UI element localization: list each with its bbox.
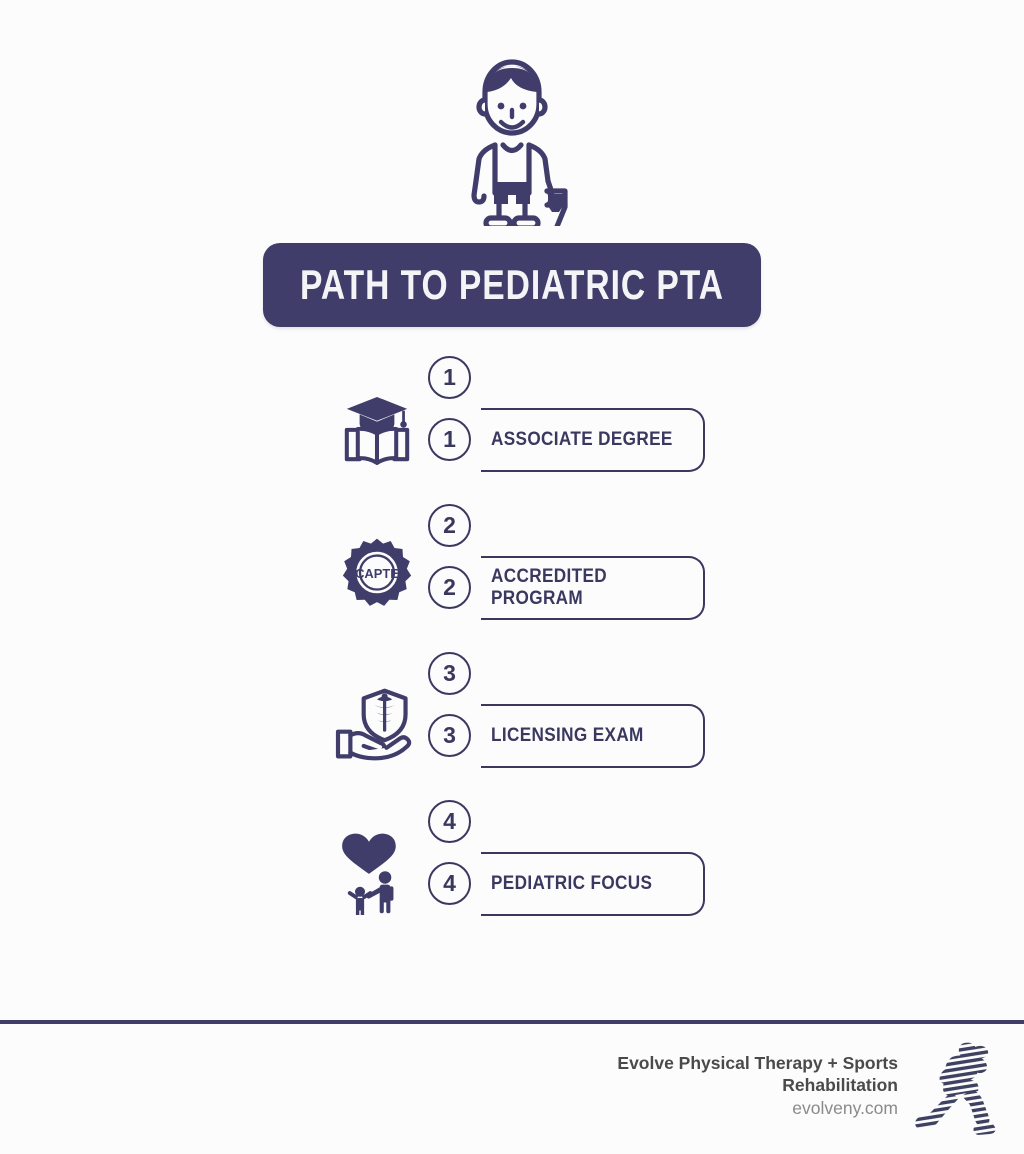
step-number-marker: 4 [428, 862, 471, 905]
step-row: 1 1 ASSOCIATE DEGREE [0, 352, 1024, 500]
step-label: LICENSING EXAM [491, 725, 644, 747]
footer: Evolve Physical Therapy + Sports Rehabil… [0, 1024, 1024, 1154]
step-label-box[interactable]: LICENSING EXAM [481, 704, 705, 768]
step-label-box[interactable]: ACCREDITED PROGRAM [481, 556, 705, 620]
step-label: ASSOCIATE DEGREE [491, 429, 673, 451]
footer-brand-text: Evolve Physical Therapy + Sports Rehabil… [617, 1052, 898, 1121]
graduation-cap-book-icon [330, 388, 424, 470]
step-number-marker-top: 4 [428, 800, 471, 843]
page-title-banner: PATH TO PEDIATRIC PTA [263, 243, 761, 327]
infographic-page: PATH TO PEDIATRIC PTA [0, 0, 1024, 1154]
capte-seal-text: CAPTE [355, 566, 399, 581]
step-label-box[interactable]: ASSOCIATE DEGREE [481, 408, 705, 472]
step-number-marker: 1 [428, 418, 471, 461]
page-title: PATH TO PEDIATRIC PTA [300, 261, 724, 309]
step-number-marker: 3 [428, 714, 471, 757]
step-label: ACCREDITED PROGRAM [491, 566, 607, 610]
step-number-marker: 2 [428, 566, 471, 609]
steps-list: 1 1 ASSOCIATE DEGREE CAPTE [0, 352, 1024, 944]
step-number-marker-top: 1 [428, 356, 471, 399]
brand-name-line-1: Evolve Physical Therapy + Sports [617, 1052, 898, 1074]
brand-name-line-2: Rehabilitation [617, 1074, 898, 1096]
step-row: CAPTE 2 2 ACCREDITED PROGRAM [0, 500, 1024, 648]
step-label-box[interactable]: PEDIATRIC FOCUS [481, 852, 705, 916]
capte-seal-icon: CAPTE [330, 536, 424, 618]
brand-website[interactable]: evolveny.com [617, 1096, 898, 1121]
hand-shield-caduceus-icon [330, 684, 424, 766]
step-row: 3 3 LICENSING EXAM [0, 648, 1024, 796]
step-number-marker-top: 3 [428, 652, 471, 695]
heart-family-icon [330, 832, 424, 914]
child-with-crutch-icon [447, 48, 577, 226]
step-number-marker-top: 2 [428, 504, 471, 547]
running-figure-striped-logo [912, 1037, 1008, 1137]
step-row: 4 4 PEDIATRIC FOCUS [0, 796, 1024, 944]
step-label: PEDIATRIC FOCUS [491, 873, 652, 895]
